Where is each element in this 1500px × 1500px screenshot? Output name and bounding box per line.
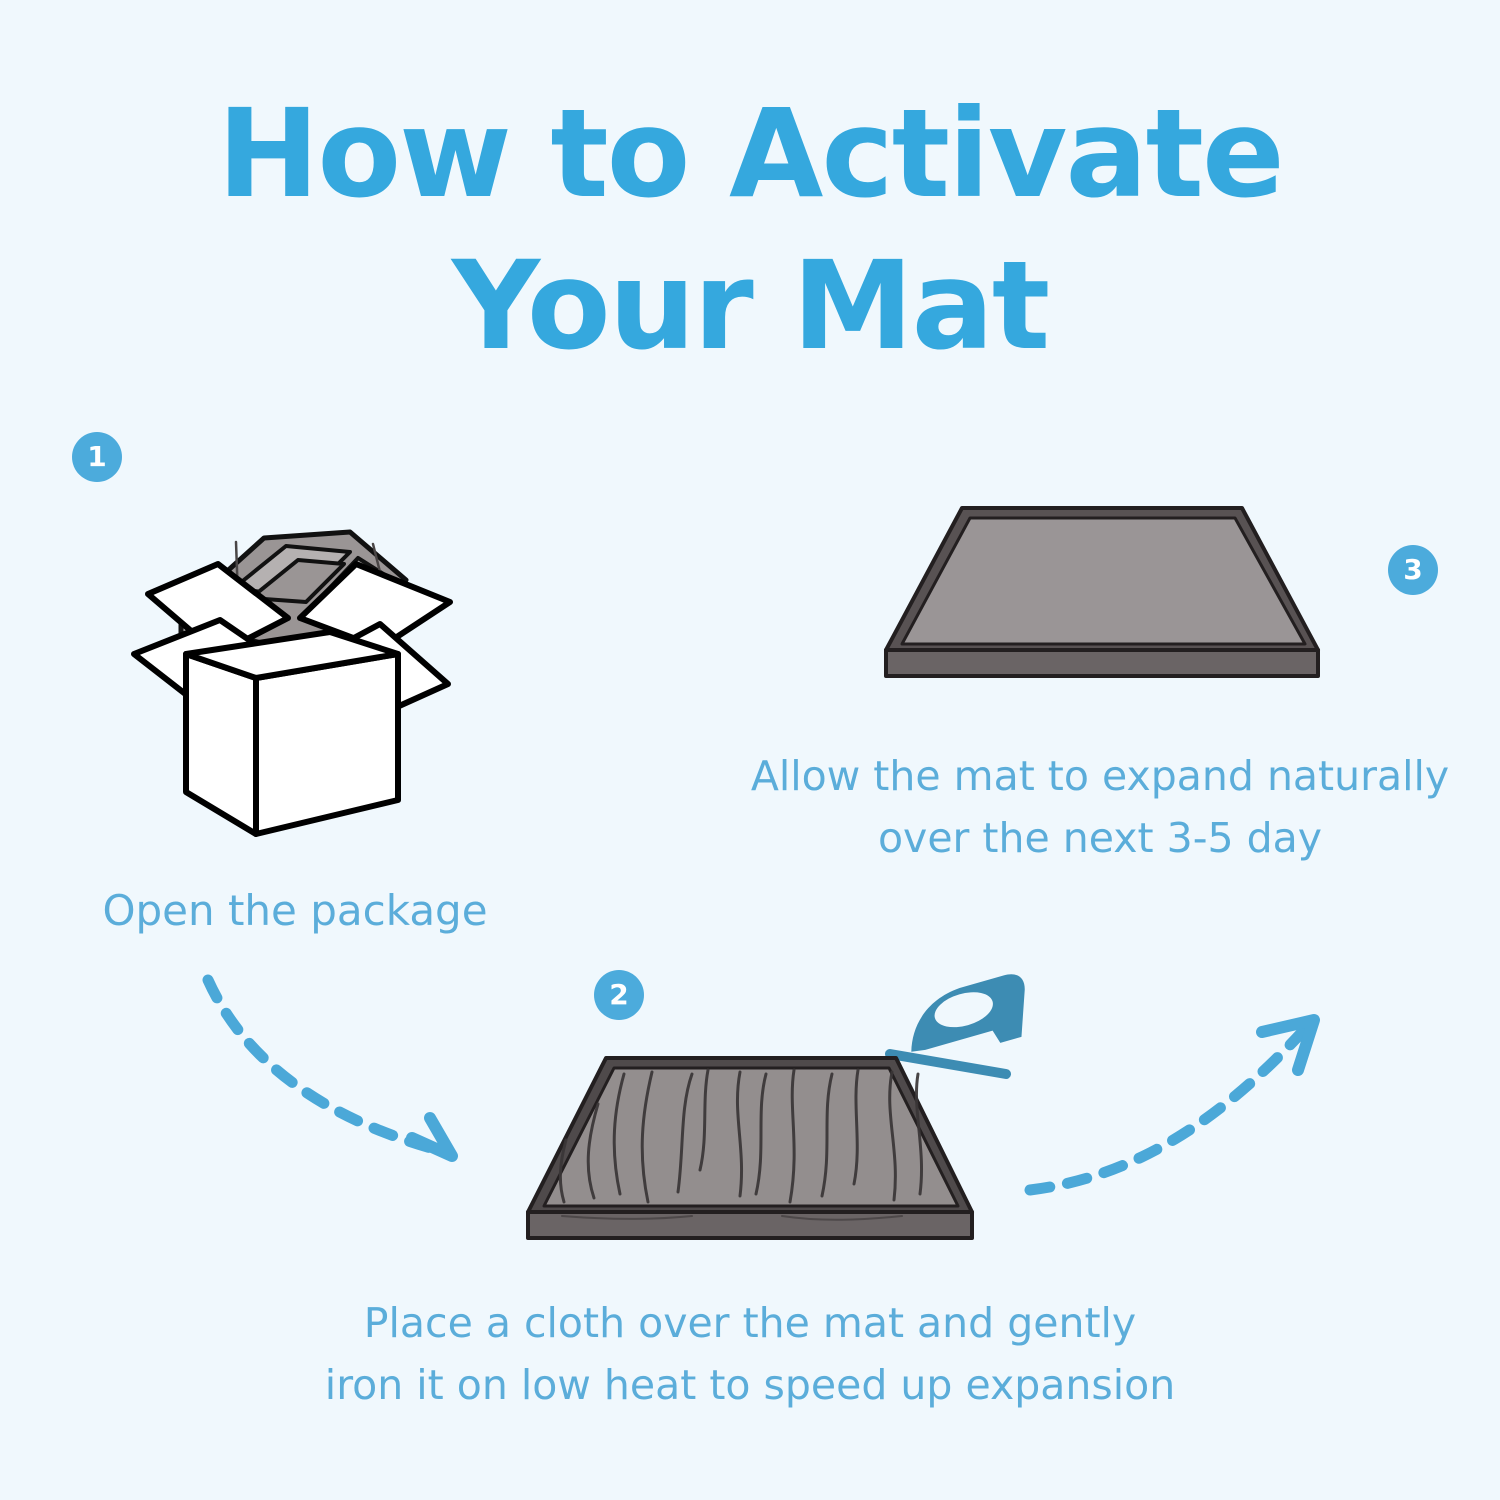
step-2-caption-line-1: Place a cloth over the mat and gently xyxy=(240,1292,1260,1354)
step-2-caption: Place a cloth over the mat and gently ir… xyxy=(240,1292,1260,1416)
step-badge-3: 3 xyxy=(1388,545,1438,595)
creased-mat-illustration xyxy=(502,1044,1002,1256)
step-badge-1: 1 xyxy=(72,432,122,482)
open-box-illustration xyxy=(118,502,488,854)
infographic-canvas: How to Activate Your Mat 1 xyxy=(0,0,1500,1500)
step-3-caption-line-1: Allow the mat to expand naturally xyxy=(700,745,1500,807)
page-title-line-2: Your Mat xyxy=(0,230,1500,382)
page-title-line-1: How to Activate xyxy=(0,78,1500,230)
page-title: How to Activate Your Mat xyxy=(0,78,1500,382)
step-badge-2: 2 xyxy=(594,970,644,1020)
step-3-caption: Allow the mat to expand naturally over t… xyxy=(700,745,1500,869)
step-2-caption-line-2: iron it on low heat to speed up expansio… xyxy=(240,1354,1260,1416)
step-3-caption-line-2: over the next 3-5 day xyxy=(700,807,1500,869)
dashed-arrow-step1-to-step2 xyxy=(180,968,500,1200)
expanded-mat-illustration xyxy=(862,492,1340,692)
step-1-caption: Open the package xyxy=(0,880,590,942)
dashed-arrow-step2-to-step3 xyxy=(1008,998,1340,1222)
